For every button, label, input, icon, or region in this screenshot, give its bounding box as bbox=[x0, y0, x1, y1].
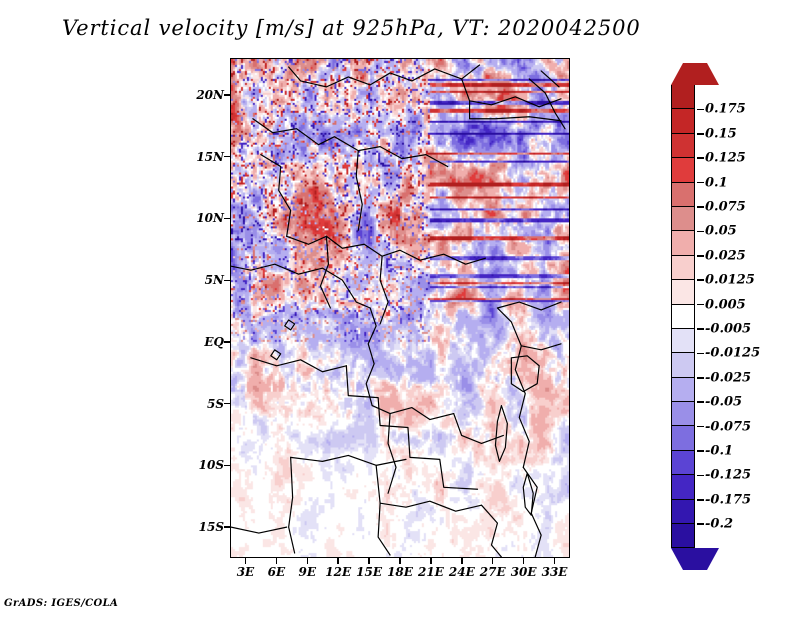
page-title: Vertical velocity [m/s] at 925hPa, VT: 2… bbox=[62, 16, 752, 40]
country-borders-overlay bbox=[231, 59, 569, 557]
colorbar-band bbox=[671, 134, 695, 158]
colorbar-tick-label: -0.075 bbox=[705, 419, 751, 434]
colorbar-tick bbox=[697, 353, 704, 355]
y-axis-tick bbox=[224, 526, 230, 527]
colorbar-band bbox=[671, 207, 695, 231]
colorbar-tick-label: 0.075 bbox=[705, 200, 746, 215]
colorbar-band bbox=[671, 402, 695, 426]
colorbar-band bbox=[671, 280, 695, 304]
colorbar-tick-label: 0.0125 bbox=[705, 273, 755, 288]
y-axis-tick-label: 15N bbox=[190, 150, 224, 164]
colorbar-top-arrow bbox=[671, 63, 719, 85]
colorbar-tick-label: 0.1 bbox=[705, 175, 728, 190]
colorbar-tick bbox=[697, 401, 704, 403]
x-axis-tick bbox=[430, 558, 431, 564]
colorbar-tick-label: -0.175 bbox=[705, 492, 751, 507]
colorbar-band bbox=[671, 353, 695, 377]
colorbar-tick-label: 0.15 bbox=[705, 126, 737, 141]
colorbar-tick-label: -0.125 bbox=[705, 468, 751, 483]
colorbar-tick-label: 0.05 bbox=[705, 224, 737, 239]
colorbar-tick-label: -0.05 bbox=[705, 395, 742, 410]
colorbar-tick bbox=[697, 255, 704, 257]
colorbar-band bbox=[671, 256, 695, 280]
colorbar-tick-label: -0.1 bbox=[705, 444, 733, 459]
x-axis-tick bbox=[492, 558, 493, 564]
y-axis-tick bbox=[224, 341, 230, 342]
x-axis-tick-label: 33E bbox=[542, 565, 568, 579]
colorbar-tick-label: 0.025 bbox=[705, 248, 746, 263]
colorbar-band bbox=[671, 378, 695, 402]
y-axis-tick-label: 20N bbox=[190, 88, 224, 102]
x-axis-tick-label: 24E bbox=[449, 565, 475, 579]
x-axis-tick-label: 15E bbox=[356, 565, 382, 579]
x-axis-tick-label: 9E bbox=[299, 565, 317, 579]
x-axis-tick bbox=[399, 558, 400, 564]
colorbar-band bbox=[671, 183, 695, 207]
colorbar-tick bbox=[697, 157, 704, 159]
colorbar-tick bbox=[697, 182, 704, 184]
x-axis-tick-label: 18E bbox=[387, 565, 413, 579]
colorbar-tick-label: -0.0125 bbox=[705, 346, 760, 361]
y-axis-tick-label: 15S bbox=[190, 520, 224, 534]
colorbar-tick bbox=[697, 523, 704, 525]
x-axis-tick bbox=[307, 558, 308, 564]
x-axis-tick-label: 3E bbox=[237, 565, 255, 579]
colorbar-tick-label: 0.125 bbox=[705, 151, 746, 166]
colorbar-bottom-arrow bbox=[671, 548, 719, 570]
colorbar-band bbox=[671, 500, 695, 524]
colorbar-band bbox=[671, 158, 695, 182]
colorbar-band bbox=[671, 426, 695, 450]
map-plot-area bbox=[230, 58, 570, 558]
x-axis-tick bbox=[245, 558, 246, 564]
attribution-text: GrADS: IGES/COLA bbox=[4, 598, 118, 609]
colorbar-tick bbox=[697, 133, 704, 135]
colorbar-band bbox=[671, 305, 695, 329]
colorbar bbox=[671, 63, 695, 570]
x-axis-tick bbox=[368, 558, 369, 564]
colorbar-tick bbox=[697, 328, 704, 330]
colorbar-tick bbox=[697, 450, 704, 452]
colorbar-band bbox=[671, 475, 695, 499]
x-axis-tick-label: 30E bbox=[511, 565, 537, 579]
colorbar-tick-label: -0.005 bbox=[705, 322, 751, 337]
y-axis-tick-label: 5N bbox=[190, 273, 224, 287]
y-axis-tick-label: EQ bbox=[190, 335, 224, 349]
y-axis-tick-label: 10N bbox=[190, 211, 224, 225]
colorbar-tick bbox=[697, 206, 704, 208]
y-axis-tick bbox=[224, 403, 230, 404]
y-axis-tick bbox=[224, 465, 230, 466]
x-axis-tick bbox=[554, 558, 555, 564]
x-axis-tick-label: 21E bbox=[418, 565, 444, 579]
colorbar-band bbox=[671, 329, 695, 353]
x-axis-tick-label: 27E bbox=[480, 565, 506, 579]
colorbar-tick-label: -0.2 bbox=[705, 517, 733, 532]
colorbar-tick bbox=[697, 109, 704, 111]
colorbar-tick-label: -0.025 bbox=[705, 370, 751, 385]
y-axis-tick bbox=[224, 94, 230, 95]
x-axis-tick bbox=[337, 558, 338, 564]
colorbar-band bbox=[671, 109, 695, 133]
colorbar-tick bbox=[697, 475, 704, 477]
x-axis-tick-label: 6E bbox=[268, 565, 286, 579]
x-axis-tick bbox=[461, 558, 462, 564]
colorbar-tick bbox=[697, 499, 704, 501]
colorbar-band bbox=[671, 231, 695, 255]
y-axis-tick bbox=[224, 218, 230, 219]
colorbar-tick bbox=[697, 279, 704, 281]
y-axis-tick-label: 5S bbox=[190, 397, 224, 411]
y-axis-tick bbox=[224, 156, 230, 157]
y-axis-tick bbox=[224, 280, 230, 281]
x-axis-tick-label: 12E bbox=[325, 565, 351, 579]
colorbar-tick-label: 0.005 bbox=[705, 297, 746, 312]
colorbar-tick bbox=[697, 231, 704, 233]
colorbar-tick bbox=[697, 426, 704, 428]
colorbar-band bbox=[671, 524, 695, 548]
x-axis-tick bbox=[523, 558, 524, 564]
colorbar-tick bbox=[697, 304, 704, 306]
colorbar-tick-label: 0.175 bbox=[705, 102, 746, 117]
y-axis-tick-label: 10S bbox=[190, 458, 224, 472]
colorbar-band bbox=[671, 451, 695, 475]
colorbar-tick bbox=[697, 377, 704, 379]
x-axis-tick bbox=[276, 558, 277, 564]
colorbar-band bbox=[671, 85, 695, 109]
